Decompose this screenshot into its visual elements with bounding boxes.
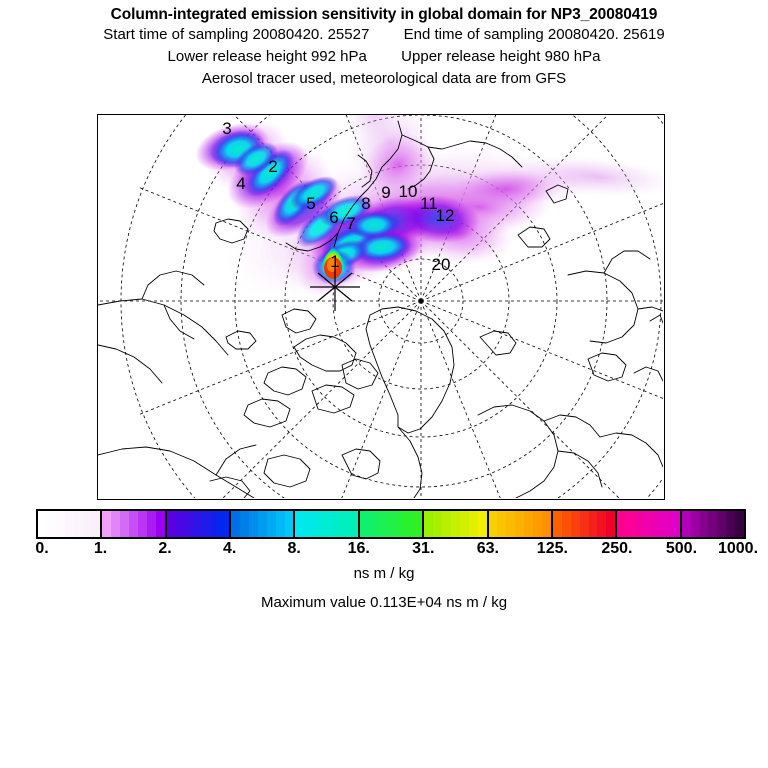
colorbar-step [515, 511, 524, 537]
colorbar-step [176, 511, 185, 537]
colorbar-step [167, 511, 176, 537]
colorbar-step [322, 511, 331, 537]
day-label-9: 9 [381, 183, 390, 202]
colorbar-step [717, 511, 726, 537]
colorbar-step [571, 511, 580, 537]
colorbar-segment-7 [489, 511, 553, 537]
colorbar-step [617, 511, 626, 537]
colorbar-step [644, 511, 653, 537]
maximum-value-label: Maximum value 0.113E+04 ns m / kg [0, 594, 768, 611]
colorbar-step [404, 511, 413, 537]
colorbar-step [533, 511, 542, 537]
lower-release-height-label: Lower release height 992 hPa [168, 48, 367, 65]
colorbar-step [413, 511, 422, 537]
colorbar-tick-31: 31. [412, 540, 434, 558]
colorbar-segment-9 [617, 511, 681, 537]
colorbar-step [682, 511, 691, 537]
day-label-10: 10 [399, 182, 418, 201]
colorbar-step [735, 511, 744, 537]
colorbar-segment-1 [102, 511, 166, 537]
colorbar-tick-250: 250. [601, 540, 632, 558]
colorbar-step [240, 511, 249, 537]
colorbar-step [276, 511, 285, 537]
colorbar-step [387, 511, 396, 537]
colorbar-unit-label: ns m / kg [0, 565, 768, 582]
colorbar-step [285, 511, 294, 537]
colorbar-tick-125: 125. [537, 540, 568, 558]
colorbar-step [267, 511, 276, 537]
colorbar-step [185, 511, 194, 537]
colorbar-step [497, 511, 506, 537]
colorbar-step [562, 511, 571, 537]
polar-stereographic-map: 12345678910111220 [98, 115, 663, 498]
colorbar-tick-16: 16. [348, 540, 370, 558]
colorbar-step [378, 511, 387, 537]
colorbar-step [478, 511, 487, 537]
day-label-12: 12 [436, 206, 455, 225]
colorbar-step [74, 511, 83, 537]
colorbar-segment-3 [231, 511, 295, 537]
colorbar-tick-4: 4. [223, 540, 236, 558]
day-label-8: 8 [361, 194, 370, 213]
colorbar-step [524, 511, 533, 537]
colorbar-step [211, 511, 220, 537]
colorbar-segment-4 [295, 511, 359, 537]
day-label-1: 1 [330, 252, 339, 271]
colorbar-step [395, 511, 404, 537]
colorbar-step [469, 511, 478, 537]
colorbar-step [506, 511, 515, 537]
colorbar-step [597, 511, 606, 537]
colorbar-segment-5 [360, 511, 424, 537]
colorbar-step [580, 511, 589, 537]
colorbar-step [442, 511, 451, 537]
day-label-3: 3 [222, 119, 231, 138]
colorbar-step [120, 511, 129, 537]
colorbar-step [589, 511, 598, 537]
colorbar-step [626, 511, 635, 537]
day-label-4: 4 [236, 174, 245, 193]
colorbar-step [349, 511, 358, 537]
tracer-info-label: Aerosol tracer used, meteorological data… [0, 68, 768, 90]
colorbar-step [202, 511, 211, 537]
colorbar-step [331, 511, 340, 537]
colorbar-step [56, 511, 65, 537]
colorbar-step [699, 511, 708, 537]
colorbar-step [147, 511, 156, 537]
colorbar-step [313, 511, 322, 537]
colorbar-step [193, 511, 202, 537]
colorbar-step [726, 511, 735, 537]
colorbar-tick-1: 1. [94, 540, 107, 558]
colorbar-step [47, 511, 56, 537]
colorbar-step [542, 511, 551, 537]
colorbar-step [671, 511, 680, 537]
colorbar-segment-6 [424, 511, 488, 537]
colorbar-step [424, 511, 433, 537]
colorbar-step [360, 511, 369, 537]
page-title: Column-integrated emission sensitivity i… [0, 5, 768, 24]
sampling-time-row: Start time of sampling 20080420. 25527 E… [0, 24, 768, 46]
colorbar-step [635, 511, 644, 537]
start-time-label: Start time of sampling 20080420. 25527 [103, 26, 369, 43]
colorbar-segment-10 [682, 511, 744, 537]
colorbar-step [258, 511, 267, 537]
header-text-block: Column-integrated emission sensitivity i… [0, 0, 768, 90]
colorbar-step [369, 511, 378, 537]
colorbar-step [129, 511, 138, 537]
colorbar-tick-500: 500. [666, 540, 697, 558]
day-label-5: 5 [306, 194, 315, 213]
colorbar-step [111, 511, 120, 537]
colorbar-step [102, 511, 111, 537]
day-label-6: 6 [329, 208, 338, 227]
colorbar [36, 509, 746, 539]
colorbar-step [606, 511, 615, 537]
colorbar-area: 0.1.2.4.8.16.31.63.125.250.500.1000. [36, 509, 746, 539]
colorbar-step [156, 511, 165, 537]
end-time-label: End time of sampling 20080420. 25619 [404, 26, 665, 43]
colorbar-step [460, 511, 469, 537]
colorbar-step [662, 511, 671, 537]
colorbar-tick-0: 0. [35, 540, 48, 558]
colorbar-step [489, 511, 498, 537]
colorbar-step [653, 511, 662, 537]
colorbar-step [249, 511, 258, 537]
colorbar-segment-2 [167, 511, 231, 537]
colorbar-tick-63: 63. [477, 540, 499, 558]
colorbar-step [220, 511, 229, 537]
colorbar-step [340, 511, 349, 537]
day-label-7: 7 [346, 214, 355, 233]
day-label-20: 20 [432, 255, 451, 274]
colorbar-segment-8 [553, 511, 617, 537]
colorbar-step [553, 511, 562, 537]
colorbar-tick-1000: 1000. [718, 540, 758, 558]
colorbar-step [433, 511, 442, 537]
colorbar-step [65, 511, 74, 537]
colorbar-step [83, 511, 92, 537]
colorbar-step [295, 511, 304, 537]
colorbar-step [691, 511, 700, 537]
colorbar-tick-2: 2. [158, 540, 171, 558]
colorbar-segment-0 [38, 511, 102, 537]
colorbar-step [708, 511, 717, 537]
colorbar-step [231, 511, 240, 537]
colorbar-step [38, 511, 47, 537]
colorbar-tick-8: 8. [288, 540, 301, 558]
upper-release-height-label: Upper release height 980 hPa [401, 48, 600, 65]
colorbar-step [451, 511, 460, 537]
emission-sensitivity-plume [189, 115, 663, 333]
colorbar-step [91, 511, 100, 537]
colorbar-tick-labels: 0.1.2.4.8.16.31.63.125.250.500.1000. [36, 540, 768, 562]
day-label-2: 2 [268, 157, 277, 176]
release-height-row: Lower release height 992 hPa Upper relea… [0, 46, 768, 68]
map-panel: 12345678910111220 [97, 114, 665, 500]
colorbar-step [304, 511, 313, 537]
colorbar-step [138, 511, 147, 537]
